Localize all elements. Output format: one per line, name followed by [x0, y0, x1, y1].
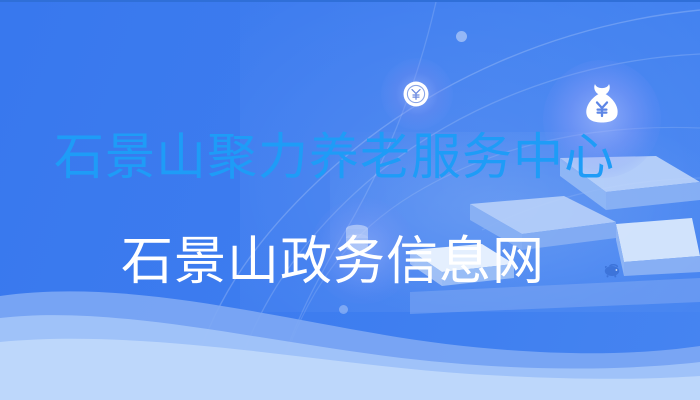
headline-group: 石景山聚力养老服务中心 石景山政务信息网	[0, 2, 700, 400]
banner-image: 石景山聚力养老服务中心 石景山政务信息网	[0, 0, 700, 400]
site-name: 石景山政务信息网	[121, 236, 545, 288]
organization-name: 石景山聚力养老服务中心	[54, 132, 615, 182]
